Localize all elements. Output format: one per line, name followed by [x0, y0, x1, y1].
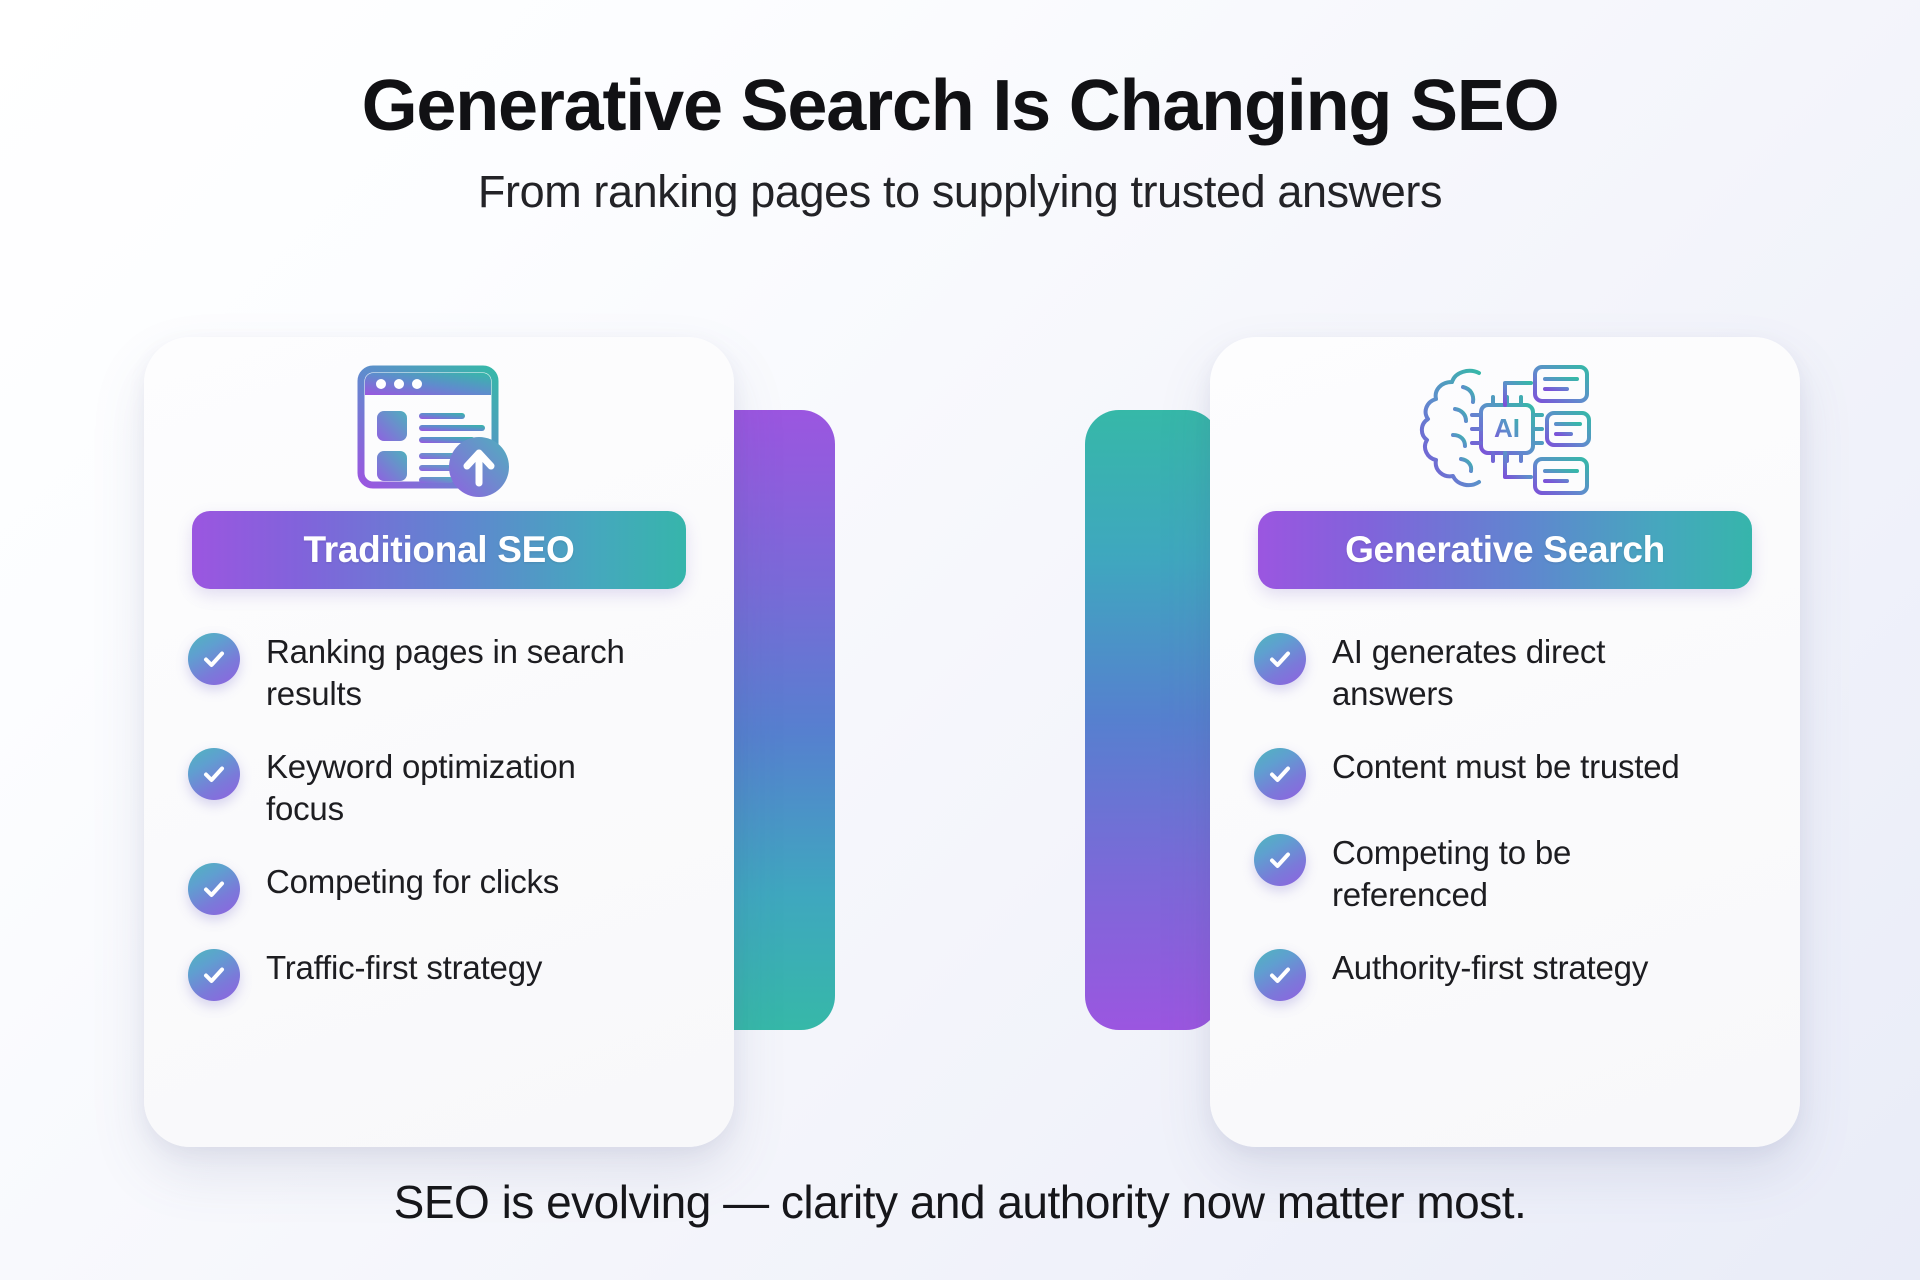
- banner-label: Traditional SEO: [304, 529, 575, 571]
- list-item: Competing for clicks: [188, 861, 690, 915]
- page-footer: SEO is evolving — clarity and authority …: [0, 1175, 1920, 1229]
- list-item-label: Competing for clicks: [266, 861, 559, 903]
- list-item-label: AI generates direct answers: [1332, 631, 1722, 714]
- list-item: Content must be trusted: [1254, 746, 1756, 800]
- list-item-label: Keyword optimization focus: [266, 746, 656, 829]
- list-item: Traffic-first strategy: [188, 947, 690, 1001]
- feature-list-traditional: Ranking pages in search results Keyword …: [188, 631, 690, 1001]
- ai-brain-chip-icon: AI: [1210, 337, 1800, 505]
- list-item: Keyword optimization focus: [188, 746, 690, 829]
- check-icon: [1254, 748, 1306, 800]
- list-item: AI generates direct answers: [1254, 631, 1756, 714]
- list-item: Competing to be referenced: [1254, 832, 1756, 915]
- card-traditional-seo[interactable]: Traditional SEO Ranking pages in search …: [144, 337, 734, 1147]
- card-banner-traditional: Traditional SEO: [192, 511, 686, 589]
- card-banner-generative: Generative Search: [1258, 511, 1752, 589]
- comparison-cards: Traditional SEO Ranking pages in search …: [0, 0, 1920, 1280]
- check-icon: [188, 748, 240, 800]
- list-item-label: Traffic-first strategy: [266, 947, 542, 989]
- banner-label: Generative Search: [1345, 529, 1665, 571]
- list-item-label: Content must be trusted: [1332, 746, 1680, 788]
- list-item-label: Ranking pages in search results: [266, 631, 656, 714]
- list-item-label: Authority-first strategy: [1332, 947, 1648, 989]
- check-icon: [188, 863, 240, 915]
- check-icon: [188, 633, 240, 685]
- check-icon: [1254, 834, 1306, 886]
- list-item-label: Competing to be referenced: [1332, 832, 1722, 915]
- check-icon: [1254, 949, 1306, 1001]
- browser-window-upload-icon: [144, 337, 734, 505]
- list-item: Authority-first strategy: [1254, 947, 1756, 1001]
- ai-chip-label: AI: [1494, 413, 1520, 443]
- feature-list-generative: AI generates direct answers Content must…: [1254, 631, 1756, 1001]
- check-icon: [1254, 633, 1306, 685]
- card-generative-search[interactable]: AI Generative Search AI generates direct…: [1210, 337, 1800, 1147]
- list-item: Ranking pages in search results: [188, 631, 690, 714]
- footer-caption: SEO is evolving — clarity and authority …: [0, 1175, 1920, 1229]
- check-icon: [188, 949, 240, 1001]
